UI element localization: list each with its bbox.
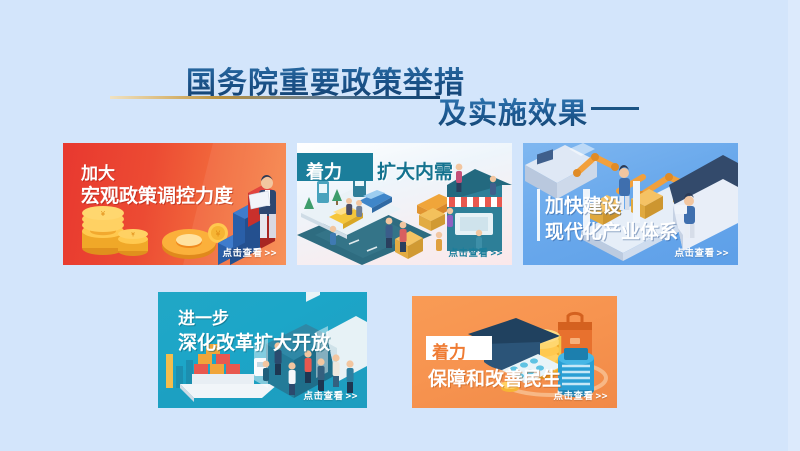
card1-headline-bottom: 宏观政策调控力度 [81, 181, 233, 208]
card5-cta-arrows-icon: >> [596, 391, 608, 402]
card2-cta-arrows-icon: >> [491, 248, 503, 259]
policy-card-modern-industry[interactable]: 加快建设 现代化产业体系 点击查看>> [523, 143, 738, 265]
policy-card-reform-opening[interactable]: 进一步 深化改革扩大开放 点击查看>> [158, 292, 367, 408]
card3-headline-bottom: 现代化产业体系 [545, 217, 678, 244]
card2-headline-top: 着力 [306, 158, 342, 184]
card1-cta[interactable]: 点击查看>> [223, 245, 277, 259]
page-title-line2: 及实施效果 [438, 90, 588, 132]
card4-headline-bottom: 深化改革扩大开放 [178, 328, 330, 355]
title-rule-left [110, 96, 440, 99]
card4-cta-label: 点击查看 [304, 391, 344, 402]
card2-cta-label: 点击查看 [449, 248, 489, 259]
card5-headline-top: 着力 [432, 338, 466, 363]
card1-cta-arrows-icon: >> [265, 248, 277, 259]
card4-cta-arrows-icon: >> [346, 391, 358, 402]
svg-text:¥: ¥ [131, 232, 135, 239]
title-rule-right [591, 107, 639, 110]
page-title: 国务院重要政策举措 及实施效果 [0, 28, 800, 108]
card1-cta-label: 点击查看 [223, 248, 263, 259]
policy-card-macro-regulation[interactable]: ¥ ¥ ¥ [63, 143, 286, 265]
policy-card-livelihood[interactable]: ¥ [412, 296, 617, 408]
card2-cta[interactable]: 点击查看>> [449, 245, 503, 259]
card4-headline-top: 进一步 [178, 304, 229, 329]
svg-text:¥: ¥ [101, 210, 106, 218]
card4-cta[interactable]: 点击查看>> [304, 388, 358, 402]
card3-cta-label: 点击查看 [675, 248, 715, 259]
card5-headline-bottom: 保障和改善民生 [428, 364, 561, 391]
card5-cta[interactable]: 点击查看>> [554, 388, 608, 402]
card2-headline-bottom: 扩大内需 [377, 157, 453, 184]
svg-text:¥: ¥ [537, 332, 542, 341]
svg-text:¥: ¥ [215, 230, 220, 239]
card5-cta-label: 点击查看 [554, 391, 594, 402]
card3-headline-top: 加快建设 [545, 191, 621, 218]
policy-card-expand-demand[interactable]: 着力 扩大内需 点击查看>> [297, 143, 512, 265]
card3-cta[interactable]: 点击查看>> [675, 245, 729, 259]
card3-accent-rule [537, 189, 540, 241]
card3-cta-arrows-icon: >> [717, 248, 729, 259]
